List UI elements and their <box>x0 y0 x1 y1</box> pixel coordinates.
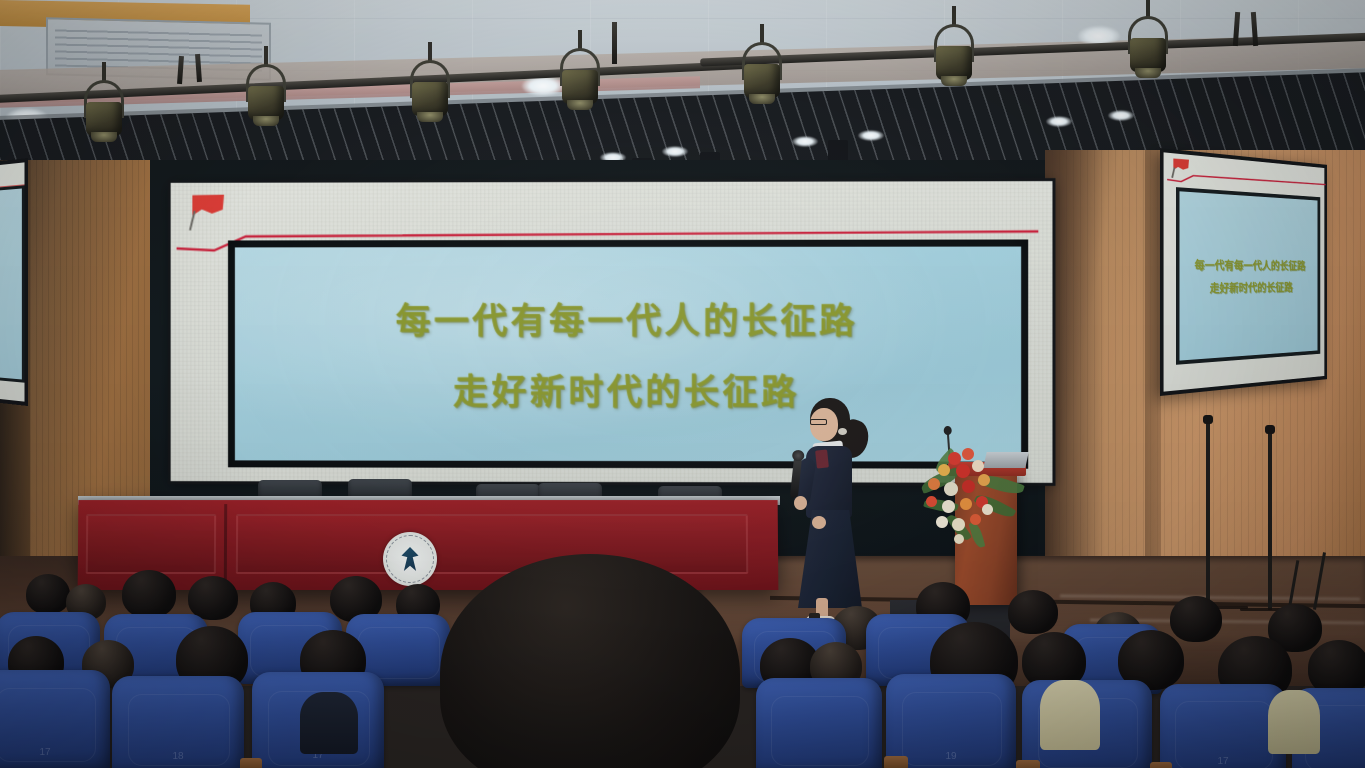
speaker-hand <box>794 496 807 510</box>
stage-spotlight <box>78 72 130 148</box>
side-screen-inner-frame: 每一代有每一代人的长征路 走好新时代的长征路 <box>1176 187 1320 365</box>
screen-inner-frame: 每一代有每一代人的长征路 走好新时代的长征路 <box>228 239 1028 468</box>
right-side-projection-screen[interactable]: 每一代有每一代人的长征路 走好新时代的长征路 <box>1160 148 1327 396</box>
stage-spotlight <box>1122 8 1174 84</box>
side-presentation-slide: 每一代有每一代人的长征路 走好新时代的长征路 <box>1179 191 1317 360</box>
seat-armrest <box>1016 760 1040 768</box>
presentation-slide: 每一代有每一代人的长征路 走好新时代的长征路 <box>235 247 1021 462</box>
seat-armrest <box>884 756 908 768</box>
red-flag-icon <box>186 195 226 229</box>
seat-armrest <box>1150 762 1172 768</box>
slide-headline-2: 走好新时代的长征路 <box>453 364 800 415</box>
floral-bouquet <box>918 438 1038 558</box>
audience-head <box>26 574 70 614</box>
audience-head <box>188 576 238 620</box>
auditorium-scene: 每一代有每一代人的长征路 走好新时代的长征路 每一代有每一代人的长征路 走好新时… <box>0 0 1365 768</box>
truss-drop-rod <box>612 22 617 64</box>
side-slide-headline-1: 每一代有每一代人的长征路 <box>1194 256 1305 273</box>
slide-headline-1: 每一代有每一代人的长征路 <box>396 293 858 344</box>
seat-number: 17 <box>1217 756 1228 767</box>
stage-spotlight <box>736 34 788 110</box>
recessed-downlight <box>1108 110 1134 121</box>
audience-seat[interactable]: 17 <box>0 670 110 768</box>
left-side-projection-screen-partial <box>0 158 28 406</box>
audience-shoulder <box>300 692 358 754</box>
wall-pillar <box>1145 150 1161 570</box>
stage-spotlight <box>928 16 980 92</box>
audience-seat[interactable]: 18 <box>112 676 244 768</box>
audience-seat[interactable]: 19 <box>886 674 1016 768</box>
stage-spotlight <box>404 52 456 128</box>
recessed-downlight <box>662 146 688 157</box>
seat-number: 18 <box>172 751 183 762</box>
audience-head <box>122 570 176 618</box>
audience-shoulder <box>1040 680 1100 750</box>
speaker-hair-tie <box>838 428 847 435</box>
seat-armrest <box>240 758 262 768</box>
audience-head <box>1170 596 1222 642</box>
stage-spotlight <box>240 56 292 132</box>
recessed-downlight <box>1046 116 1072 127</box>
recessed-downlight <box>792 136 818 147</box>
seat-number: 19 <box>945 751 956 762</box>
speaker-scarf <box>815 449 829 468</box>
stage-spotlight <box>554 40 606 116</box>
audience-seat[interactable] <box>756 678 882 768</box>
audience-head <box>1008 590 1058 634</box>
speaker-hand <box>812 516 826 529</box>
side-slide-headline-2: 走好新时代的长征路 <box>1210 279 1293 296</box>
seat-number: 17 <box>39 747 50 758</box>
recessed-downlight <box>858 130 884 141</box>
audience-shoulder <box>1268 690 1320 754</box>
glasses-icon <box>810 419 827 425</box>
